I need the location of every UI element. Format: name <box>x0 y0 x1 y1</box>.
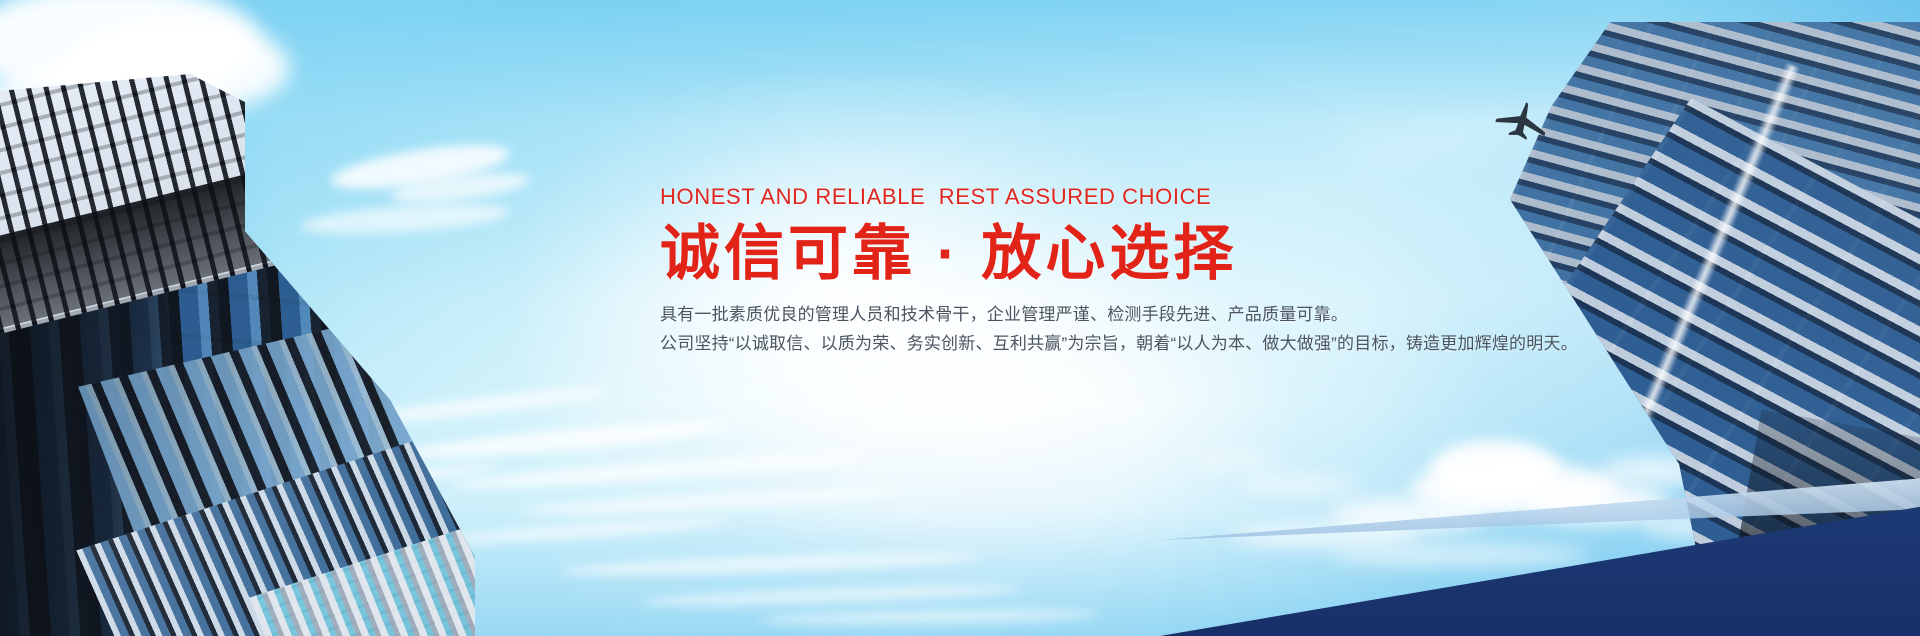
cloud <box>1240 474 1360 496</box>
banner-eyebrow: HONEST AND RELIABLE REST ASSURED CHOICE <box>660 186 1480 208</box>
description-line: 具有一批素质优良的管理人员和技术骨干，企业管理严谨、检测手段先进、产品质量可靠。 <box>660 300 1480 330</box>
description-line: 公司坚持“以诚取信、以质为荣、务实创新、互利共赢”为宗旨，朝着“以人为本、做大做… <box>660 329 1480 359</box>
cloud <box>1190 452 1280 468</box>
banner-description: 具有一批素质优良的管理人员和技术骨干，企业管理严谨、检测手段先进、产品质量可靠。… <box>660 300 1480 360</box>
banner-copy: HONEST AND RELIABLE REST ASSURED CHOICE … <box>660 186 1480 359</box>
banner-headline: 诚信可靠 · 放心选择 <box>660 222 1480 286</box>
cloud <box>1330 544 1590 566</box>
hero-banner: HONEST AND RELIABLE REST ASSURED CHOICE … <box>0 0 1920 636</box>
